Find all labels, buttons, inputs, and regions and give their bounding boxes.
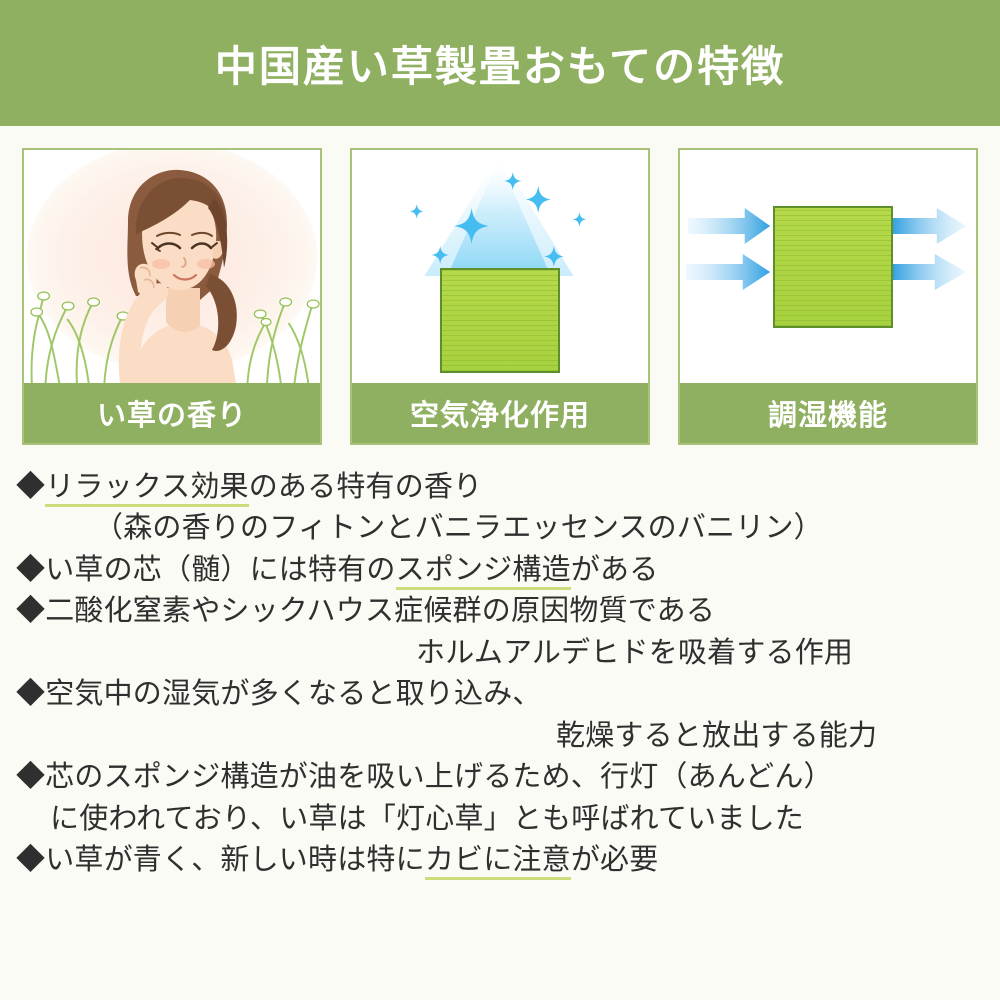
tatami-mat-swatch — [440, 268, 560, 373]
line-text-post: がある — [571, 554, 659, 586]
line-text-pre: （森の香りのフィトンとバニラエッセンスのバニリン） — [94, 512, 823, 544]
line-text-pre: 乾燥すると放出する能力 — [556, 720, 877, 752]
page-title: 中国産い草製畳おもての特徴 — [215, 33, 785, 94]
description-line: ◆空気中の湿気が多くなると取り込み、 — [16, 674, 984, 715]
bullet-icon: ◆ — [16, 761, 45, 793]
description-line: ◆い草が青く、新しい時は特にカビに注意が必要 — [16, 840, 984, 881]
line-text-pre: 二酸化窒素やシックハウス症候群の原因物質である — [45, 595, 715, 627]
bullet-icon: ◆ — [16, 844, 45, 876]
page-header: 中国産い草製畳おもての特徴 — [0, 0, 1000, 126]
line-text-post: が必要 — [571, 844, 659, 876]
line-text-pre: ホルムアルデヒドを吸着する作用 — [416, 637, 853, 669]
line-text-pre: 芯のスポンジ構造が油を吸い上げるため、行灯（あんどん） — [45, 761, 833, 793]
line-text-highlight: スポンジ構造 — [396, 554, 571, 590]
description-line: （森の香りのフィトンとバニラエッセンスのバニリン） — [16, 508, 984, 549]
tatami-mat-swatch — [773, 206, 893, 328]
line-text-pre: い草の芯（髄）には特有の — [45, 554, 395, 586]
woman-relaxing-with-grass-illustration — [24, 150, 320, 383]
feature-card-humidity-control: 調湿機能 — [678, 148, 978, 445]
feature-description-list: ◆リラックス効果のある特有の香り （森の香りのフィトンとバニラエッセンスのバニリ… — [0, 445, 1000, 882]
bullet-icon: ◆ — [16, 678, 45, 710]
bullet-icon: ◆ — [16, 595, 45, 627]
bullet-icon: ◆ — [16, 554, 45, 586]
line-text-pre: 空気中の湿気が多くなると取り込み、 — [45, 678, 541, 710]
page-root: 中国産い草製畳おもての特徴 — [0, 0, 1000, 1000]
tatami-mat-purifying-air-illustration — [352, 150, 648, 383]
description-line: ホルムアルデヒドを吸着する作用 — [16, 633, 984, 674]
description-line: ◆い草の芯（髄）には特有のスポンジ構造がある — [16, 550, 984, 591]
description-line: ◆リラックス効果のある特有の香り — [16, 467, 984, 508]
description-line: ◆二酸化窒素やシックハウス症候群の原因物質である — [16, 591, 984, 632]
feature-card-caption: 空気浄化作用 — [352, 383, 648, 443]
line-text-post: のある特有の香り — [249, 471, 483, 503]
line-text-pre: い草が青く、新しい時は特に — [45, 844, 425, 876]
bullet-icon: ◆ — [16, 471, 45, 503]
line-text-pre: に使われており、い草は「灯心草」とも呼ばれていました — [50, 803, 804, 835]
line-text-highlight: リラックス効果 — [45, 471, 249, 507]
description-line: に使われており、い草は「灯心草」とも呼ばれていました — [16, 799, 984, 840]
description-line: 乾燥すると放出する能力 — [16, 716, 984, 757]
description-line: ◆芯のスポンジ構造が油を吸い上げるため、行灯（あんどん） — [16, 757, 984, 798]
woman-figure-icon — [24, 150, 320, 383]
feature-card-caption: 調湿機能 — [680, 383, 976, 443]
feature-card-scent: い草の香り — [22, 148, 322, 445]
line-text-highlight: カビに注意 — [425, 844, 571, 880]
feature-card-air-purification: 空気浄化作用 — [350, 148, 650, 445]
feature-card-caption: い草の香り — [24, 383, 320, 443]
feature-card-list: い草の香り — [0, 126, 1000, 445]
tatami-mat-humidity-control-illustration — [680, 150, 976, 383]
